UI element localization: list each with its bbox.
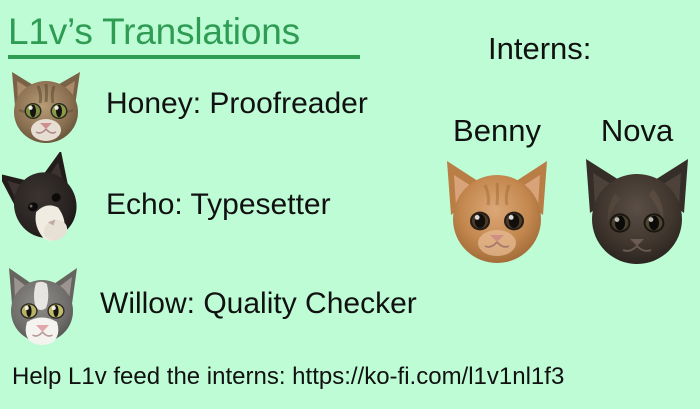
title-block: L1v’s Translations: [8, 12, 428, 59]
intern-name-nova: Nova: [572, 113, 700, 149]
translation-credits-card: L1v’s Translations Interns:: [0, 0, 700, 409]
intern-block-benny: Benny: [432, 113, 562, 273]
title-underline: [8, 55, 360, 59]
staff-row-willow: Willow: Quality Checker: [0, 262, 417, 346]
interns-heading: Interns:: [488, 30, 591, 68]
intern-name-benny: Benny: [432, 113, 562, 149]
staff-row-honey: Honey: Proofreader: [2, 62, 368, 146]
support-link-text[interactable]: Help L1v feed the interns: https://ko-fi…: [12, 362, 564, 392]
brown-tabby-cat-face-icon: [2, 62, 90, 146]
staff-label-echo: Echo: Typesetter: [106, 187, 331, 223]
ginger-kitten-face-icon: [432, 153, 562, 273]
dark-kitten-face-icon: [572, 153, 700, 273]
grey-and-white-cat-face-icon: [0, 262, 86, 346]
staff-label-willow: Willow: Quality Checker: [100, 286, 417, 322]
intern-block-nova: Nova: [572, 113, 700, 273]
staff-row-echo: Echo: Typesetter: [2, 152, 331, 257]
page-title: L1v’s Translations: [8, 12, 428, 52]
staff-label-honey: Honey: Proofreader: [106, 86, 368, 122]
black-and-white-cat-face-icon: [2, 152, 90, 257]
